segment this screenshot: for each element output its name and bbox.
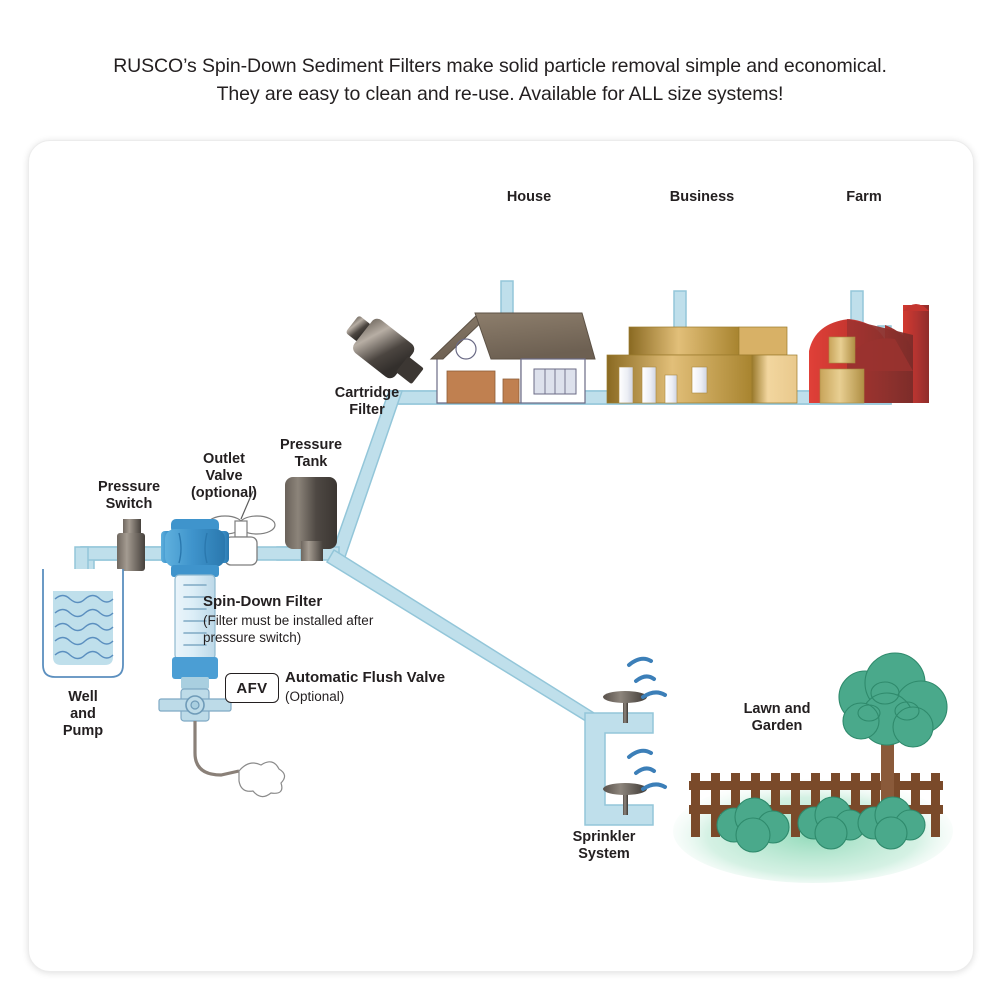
office-building-icon: [607, 327, 797, 403]
pressure-switch-icon: [117, 519, 145, 571]
label-cartridge-filter: Cartridge Filter: [307, 385, 427, 419]
spin-down-note: (Filter must be installed after pressure…: [203, 613, 443, 646]
automatic-flush-valve-note: (Optional): [285, 689, 485, 706]
label-pressure-switch: Pressure Switch: [69, 479, 189, 513]
barn-silo-icon: [809, 304, 929, 403]
lawn-and-garden-scene: [673, 653, 953, 883]
cartridge-filter-icon: [339, 307, 431, 392]
label-well-and-pump: Well and Pump: [37, 689, 129, 740]
label-spin-down-filter: Spin-Down Filter: [203, 593, 443, 610]
label-sprinkler-system: Sprinkler System: [529, 829, 679, 863]
diagram-card: House Business Farm Cartridge Filter Pre…: [28, 140, 974, 972]
label-farm: Farm: [799, 189, 929, 206]
label-business: Business: [622, 189, 782, 206]
automatic-flush-valve-icon[interactable]: [159, 689, 285, 797]
headline: RUSCO’s Spin-Down Sediment Filters make …: [0, 52, 1000, 108]
pressure-tank-icon: [285, 477, 337, 561]
headline-line-1: RUSCO’s Spin-Down Sediment Filters make …: [0, 52, 1000, 80]
afv-badge: AFV: [225, 673, 279, 703]
system-diagram: [29, 141, 973, 971]
house-icon: [431, 313, 595, 403]
diagram-stage: House Business Farm Cartridge Filter Pre…: [29, 141, 973, 971]
label-automatic-flush-valve: Automatic Flush Valve: [285, 669, 525, 686]
label-house: House: [449, 189, 609, 206]
label-lawn-and-garden: Lawn and Garden: [697, 701, 857, 735]
well-water-bucket-icon: [43, 569, 123, 677]
headline-line-2: They are easy to clean and re-use. Avail…: [0, 80, 1000, 108]
